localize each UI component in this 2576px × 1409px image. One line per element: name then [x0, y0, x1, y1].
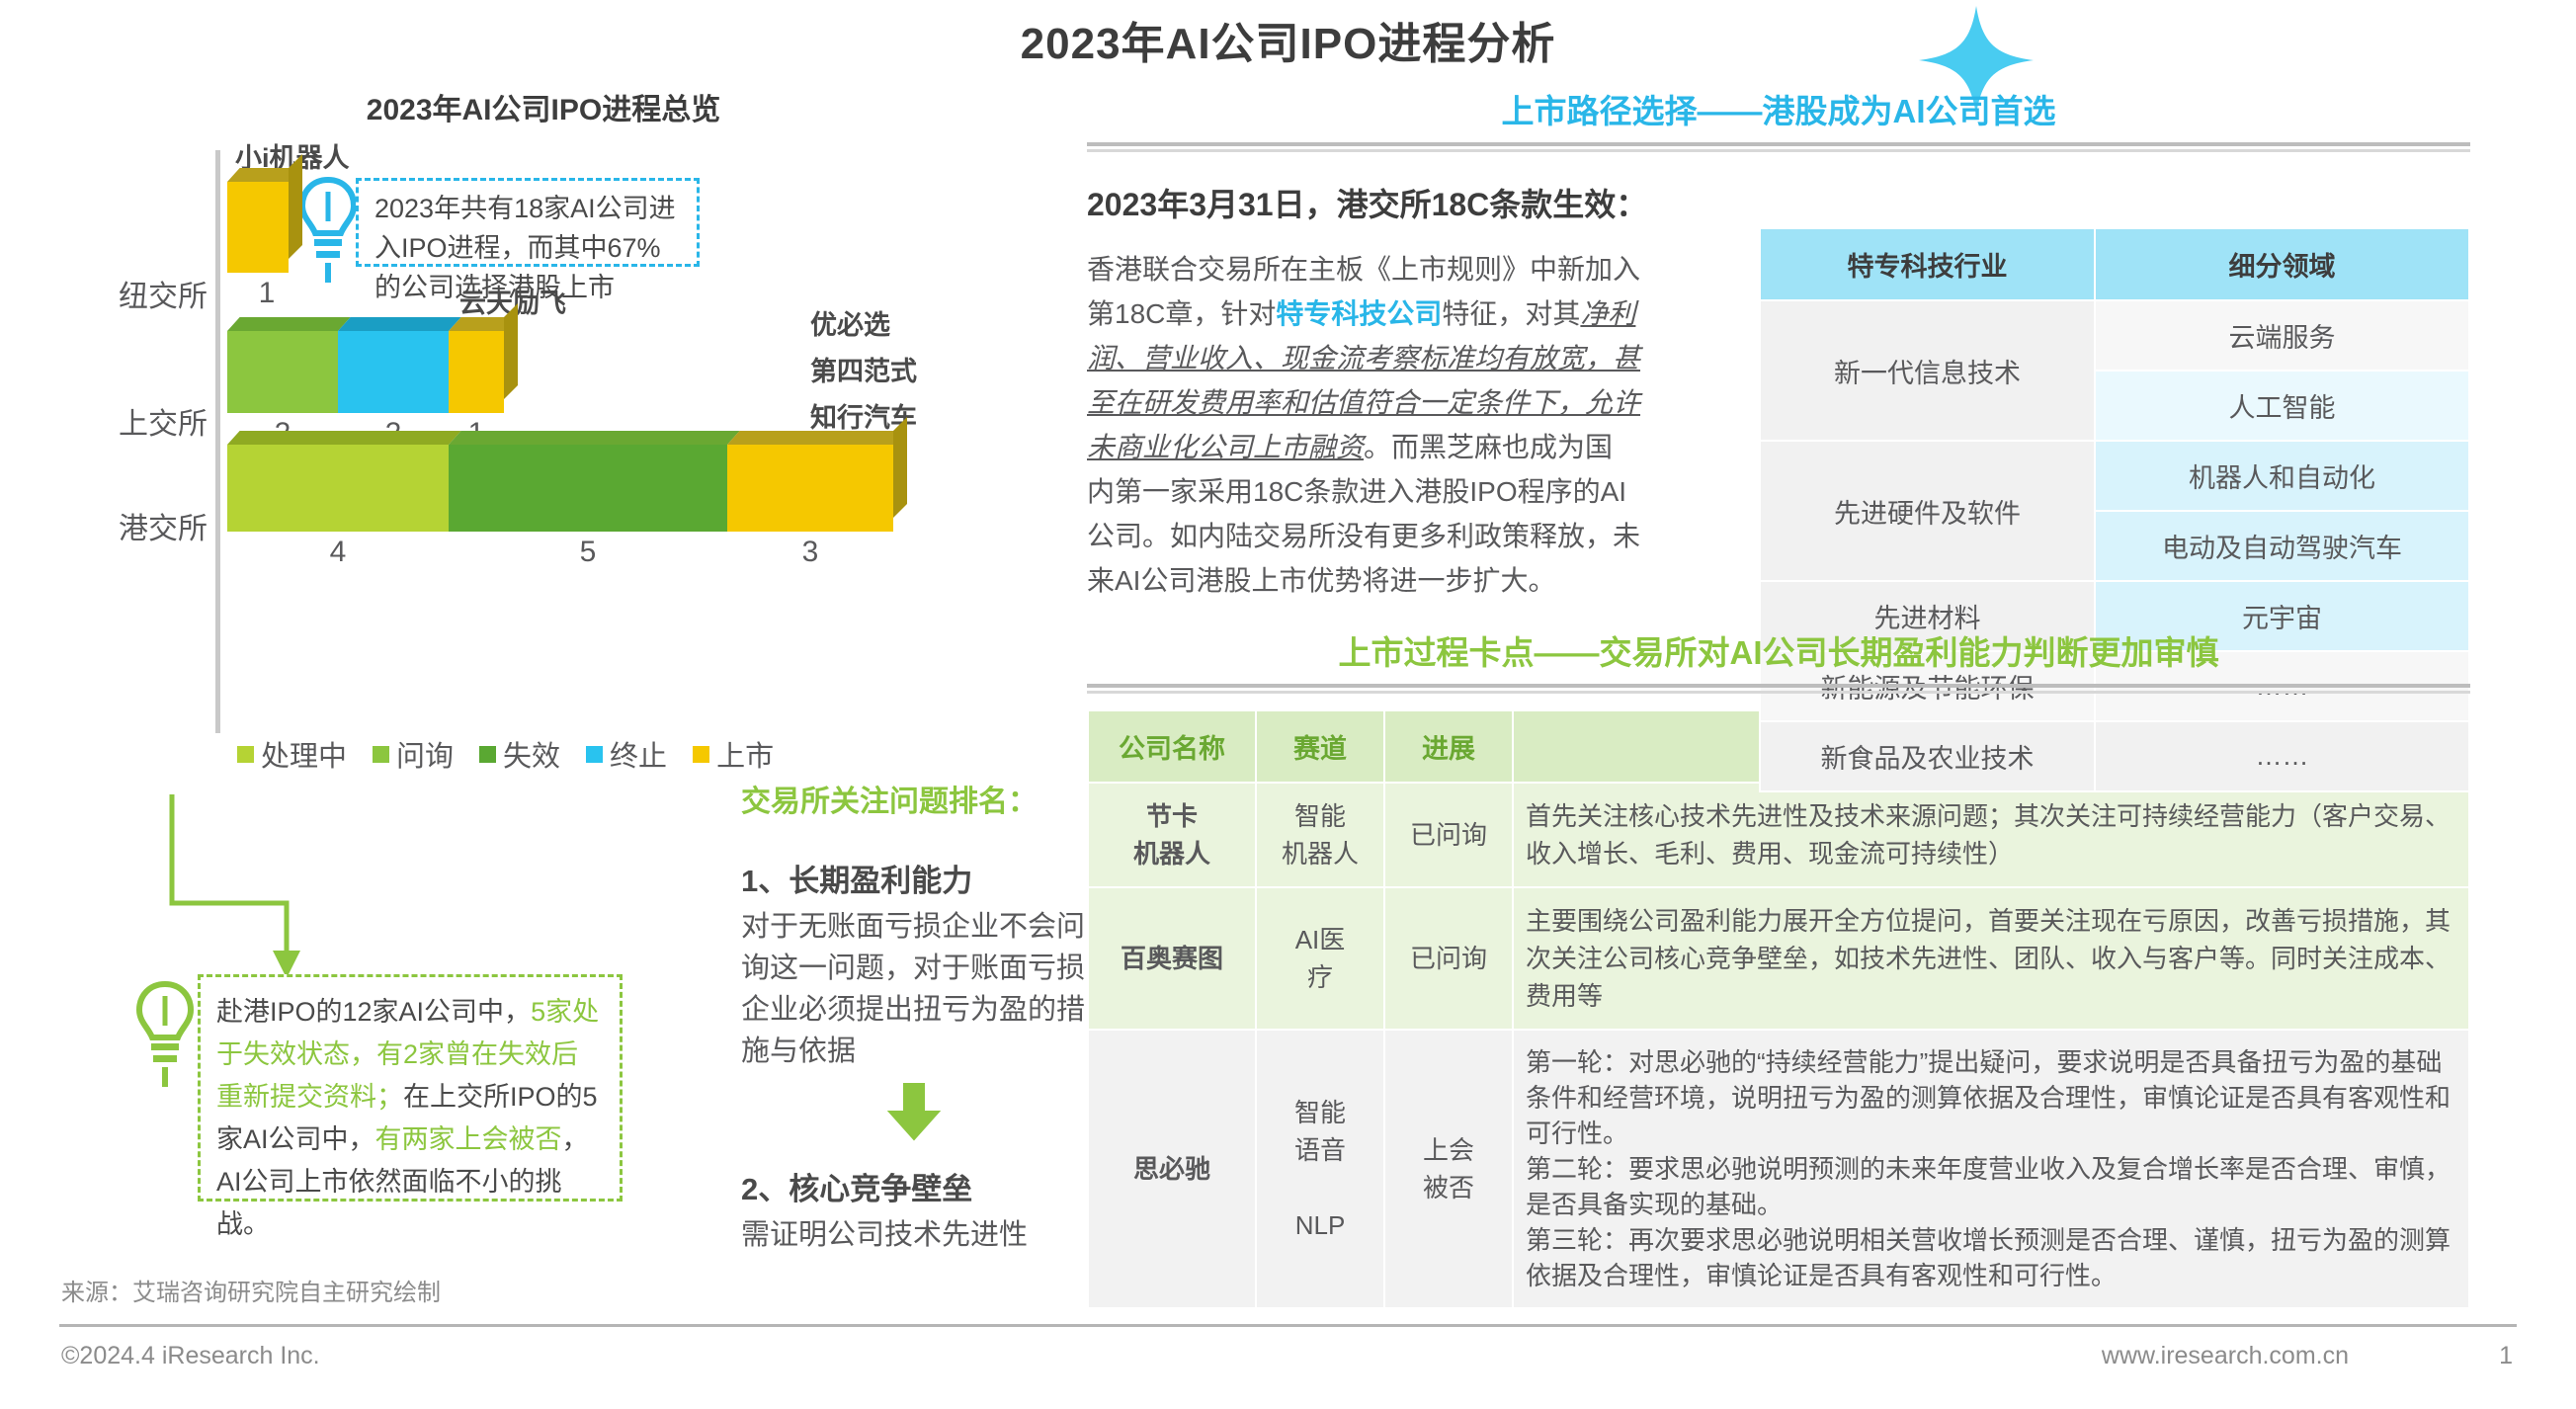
field-col-header: 细分领域 — [2095, 228, 2469, 300]
legend-item-listed: 上市 — [693, 733, 774, 775]
infographic-page: 2023年AI公司IPO进程分析 2023年AI公司IPO进程总览 2023年共… — [0, 0, 2576, 1409]
section1-rule2 — [1087, 149, 2470, 152]
table-row: 先进硬件及软件 机器人和自动化 — [1760, 441, 2469, 511]
chart-category-sse: 上交所 — [59, 399, 208, 443]
section1-rule — [1087, 142, 2470, 146]
section2-rule — [1087, 684, 2470, 688]
section2-header: 上市过程卡点——交易所对AI公司长期盈利能力判断更加审慎 — [1087, 626, 2470, 694]
callout-green-p1: 赴港IPO的12家AI公司中， — [216, 997, 531, 1027]
legend-label-lapsed: 失效 — [503, 733, 560, 775]
right-column: 上市路径选择——港股成为AI公司首选 2023年3月31日，港交所18C条款生效… — [1087, 85, 2510, 1309]
callout-green-box: 赴港IPO的12家AI公司中，5家处于失效状态，有2家曾在失效后重新提交资料；在… — [198, 974, 623, 1202]
bar-segment-processing — [227, 445, 449, 532]
industry-cell-2: 先进硬件及软件 — [1760, 441, 2095, 581]
bar-segment-lapsed — [449, 445, 727, 532]
legend-swatch-lapsed — [479, 746, 496, 763]
bar-value-hkex-3: 3 — [727, 536, 893, 569]
bar-segment-listed-hkex — [727, 445, 893, 532]
legend-item-terminated: 终止 — [586, 733, 667, 775]
bar-row-nyse — [227, 182, 289, 273]
bar-segment-terminated — [338, 331, 449, 413]
q-content-3: 第一轮：对思必驰的“持续经营能力”提出疑问，要求说明是否具备扭亏为盈的基础条件和… — [1513, 1030, 2469, 1308]
question-table: 公司名称 赛道 进展 问询内容 节卡 机器人 智能 机器人 已问询 首先关注核心… — [1087, 709, 2470, 1309]
legend-label-listed: 上市 — [716, 733, 774, 775]
q-company-2: 百奥赛图 — [1088, 887, 1256, 1030]
bar-segment-inquiry — [227, 331, 338, 413]
q-track-2: AI医 疗 — [1256, 887, 1384, 1030]
q-status-1: 已问询 — [1384, 783, 1513, 887]
q-col-status: 进展 — [1384, 710, 1513, 783]
elbow-arrow-icon — [168, 794, 336, 992]
field-cell-2a: 机器人和自动化 — [2095, 441, 2469, 511]
down-arrow-icon — [741, 1082, 1087, 1148]
field-cell-2b: 电动及自动驾驶汽车 — [2095, 511, 2469, 581]
legend-swatch-processing — [237, 746, 254, 763]
legend-item-lapsed: 失效 — [479, 733, 560, 775]
industry-table: 特专科技行业 细分领域 新一代信息技术 云端服务 人工智能 先进硬件及软件 机器… — [1759, 227, 2470, 792]
legend-swatch-terminated — [586, 746, 603, 763]
exchange-question-ranking: 交易所关注问题排名： 1、长期盈利能力 对于无账面亏损企业不会问询这一问题，对于… — [741, 777, 1087, 1256]
table-row: 思必驰 智能 语音 NLP 上会 被否 第一轮：对思必驰的“持续经营能力”提出疑… — [1088, 1030, 2469, 1308]
table-row: 新一代信息技术 云端服务 — [1760, 300, 2469, 371]
ranking-item1-head: 1、长期盈利能力 — [741, 856, 1087, 900]
q-content-2: 主要围绕公司盈利能力展开全方位提问，首要关注现在亏原因，改善亏损措施，其次关注公… — [1513, 887, 2469, 1030]
footer-copyright: ©2024.4 iResearch Inc. — [61, 1342, 320, 1370]
ranking-item2-head: 2、核心竞争壁垒 — [741, 1164, 1087, 1208]
company-label-hkex-2: 第四范式 — [810, 350, 917, 388]
callout-green-hl2: 有两家上会被否 — [375, 1124, 562, 1154]
legend-swatch-listed — [693, 746, 709, 763]
bar-segment-listed-sse — [449, 331, 504, 413]
left-column: 2023年AI公司IPO进程总览 2023年共有18家AI公司进入IPO进程，而… — [59, 85, 1057, 1300]
section1-header: 上市路径选择——港股成为AI公司首选 — [1087, 85, 2470, 152]
table-row: 百奥赛图 AI医 疗 已问询 主要围绕公司盈利能力展开全方位提问，首要关注现在亏… — [1088, 887, 2469, 1030]
q-track-3: 智能 语音 NLP — [1256, 1030, 1384, 1308]
legend-label-inquiry: 问询 — [396, 733, 454, 775]
q-status-3: 上会 被否 — [1384, 1030, 1513, 1308]
chart-title: 2023年AI公司IPO进程总览 — [267, 85, 820, 128]
legend-label-terminated: 终止 — [610, 733, 667, 775]
footer-page-number: 1 — [2499, 1342, 2513, 1370]
chart-category-nyse: 纽交所 — [59, 272, 208, 315]
q-track-1: 智能 机器人 — [1256, 783, 1384, 887]
legend-swatch-inquiry — [373, 746, 389, 763]
s1-t2: 特征，对其 — [1442, 298, 1580, 329]
ranking-item1-body: 对于无账面亏损企业不会问询这一问题，对于账面亏损企业必须提出扭亏为盈的措施与依据 — [741, 906, 1087, 1072]
chart-axis — [215, 150, 220, 733]
field-cell-1a: 云端服务 — [2095, 300, 2469, 371]
company-label-hkex-1: 优必选 — [810, 303, 890, 342]
legend-item-processing: 处理中 — [237, 733, 347, 775]
bar-segment-listed — [227, 182, 289, 273]
field-cell-5a: …… — [2095, 721, 2469, 791]
field-cell-1b: 人工智能 — [2095, 371, 2469, 441]
industry-col-header: 特专科技行业 — [1760, 228, 2095, 300]
q-company-1: 节卡 机器人 — [1088, 783, 1256, 887]
legend-item-inquiry: 问询 — [373, 733, 454, 775]
legend-label-processing: 处理中 — [261, 733, 347, 775]
industry-cell-1: 新一代信息技术 — [1760, 300, 2095, 441]
q-col-company: 公司名称 — [1088, 710, 1256, 783]
section1-title: 上市路径选择——港股成为AI公司首选 — [1087, 85, 2470, 140]
s1-hl1: 特专科技公司 — [1276, 298, 1442, 329]
page-title: 2023年AI公司IPO进程分析 — [0, 8, 2576, 71]
bar-value-hkex-2: 5 — [449, 536, 727, 569]
bar-row-sse — [227, 331, 504, 413]
chart-category-hkex: 港交所 — [59, 504, 208, 547]
q-content-1: 首先关注核心技术先进性及技术来源问题；其次关注可持续经营能力（客户交易、收入增长… — [1513, 783, 2469, 887]
section2-title: 上市过程卡点——交易所对AI公司长期盈利能力判断更加审慎 — [1087, 626, 2470, 682]
table-row: 节卡 机器人 智能 机器人 已问询 首先关注核心技术先进性及技术来源问题；其次关… — [1088, 783, 2469, 887]
table-row: 新食品及农业技术 …… — [1760, 721, 2469, 791]
section1-body: 香港联合交易所在主板《上市规则》中新加入第18C章，针对特专科技公司特征，对其净… — [1087, 247, 1640, 603]
section1-subtitle: 2023年3月31日，港交所18C条款生效： — [1087, 180, 2510, 225]
ranking-item2-body: 需证明公司技术先进性 — [741, 1214, 1087, 1256]
ranking-title: 交易所关注问题排名： — [741, 777, 1087, 820]
footer-divider — [59, 1324, 2517, 1327]
footer-website: www.iresearch.com.cn — [2102, 1342, 2349, 1370]
q-status-2: 已问询 — [1384, 887, 1513, 1030]
industry-cell-5: 新食品及农业技术 — [1760, 721, 2095, 791]
source-note: 来源：艾瑞咨询研究院自主研究绘制 — [61, 1273, 441, 1307]
industry-table-header-row: 特专科技行业 细分领域 — [1760, 228, 2469, 300]
bar-row-hkex — [227, 445, 893, 532]
q-company-3: 思必驰 — [1088, 1030, 1256, 1308]
bar-value-nyse-1: 1 — [237, 277, 296, 310]
q-col-track: 赛道 — [1256, 710, 1384, 783]
chart-legend: 处理中 问询 失效 终止 上市 — [237, 733, 774, 775]
bar-value-hkex-1: 4 — [227, 536, 449, 569]
lightbulb-icon-green — [136, 980, 194, 1089]
section2-rule2 — [1087, 691, 2470, 694]
ipo-bar-chart: 纽交所 上交所 港交所 小i机器人 1 云天励飞 — [59, 130, 1057, 783]
